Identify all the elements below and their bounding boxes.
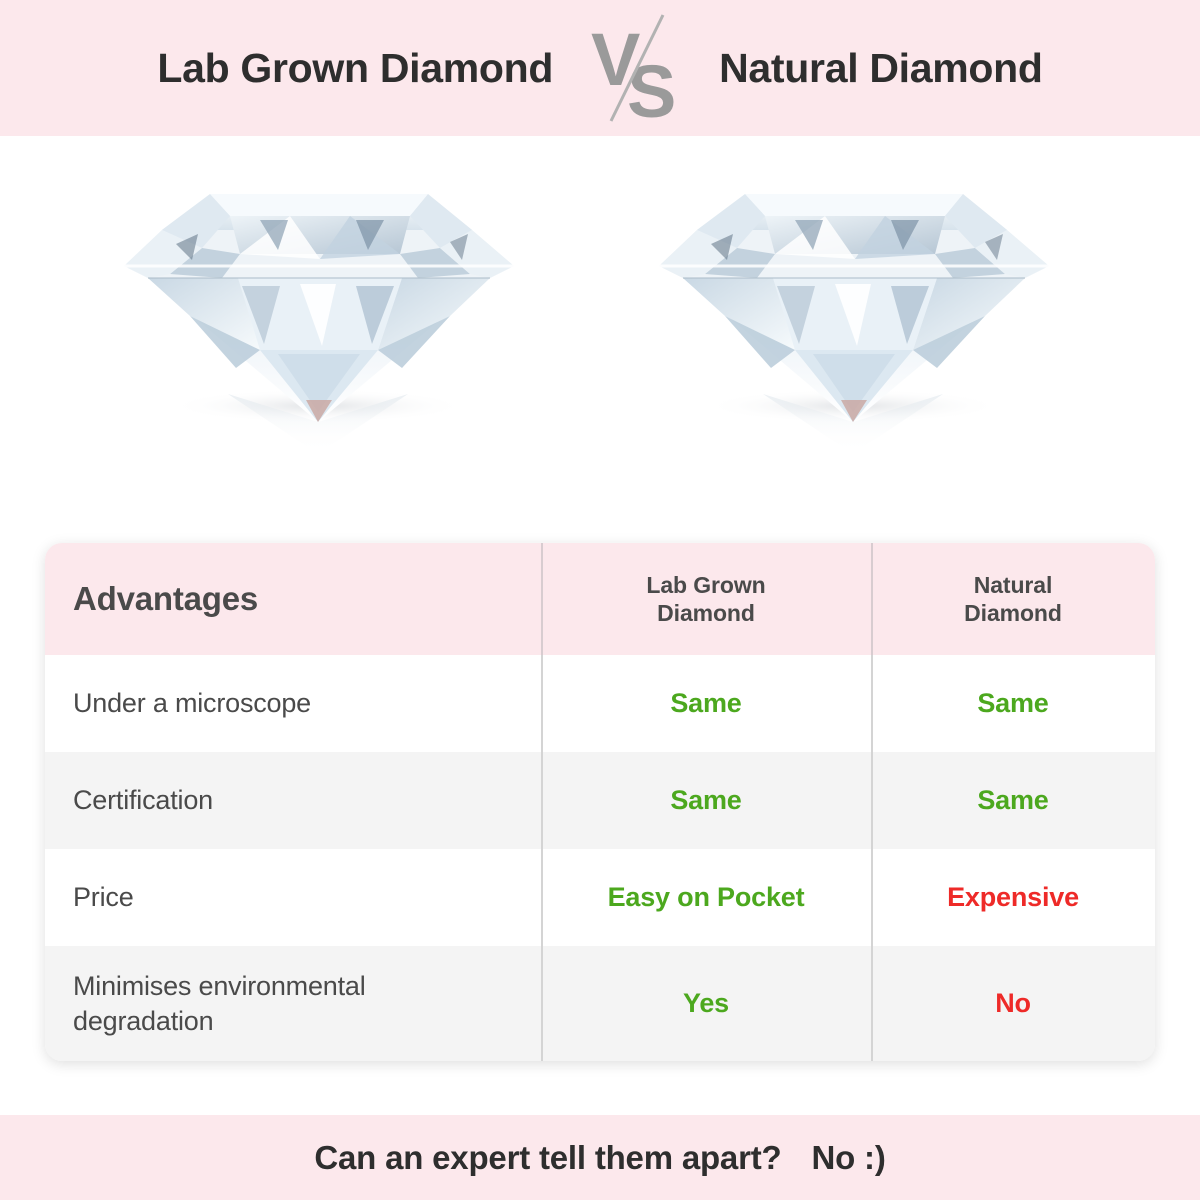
row-natural-cell: Same [871,655,1155,752]
lab-grown-diamond-image [110,154,530,484]
lab-grown-header-text: Lab Grown Diamond [646,571,765,627]
row-lab-grown-value: Yes [683,988,729,1019]
row-feature-cell: Minimises environmental degradation [45,946,541,1061]
table-header-lab-grown: Lab Grown Diamond [541,543,871,655]
header-banner-inner: Lab Grown Diamond V S Natural Diamond [0,13,1200,123]
row-natural-cell: Same [871,752,1155,849]
table-header-advantages: Advantages [45,543,541,655]
header-title-natural: Natural Diamond [719,45,1043,92]
row-natural-value: Same [977,785,1048,816]
footer-answer: No :) [811,1139,885,1177]
row-feature-label: Under a microscope [73,686,311,721]
lab-grown-header-line1: Lab Grown [646,571,765,599]
header-title-lab-grown: Lab Grown Diamond [157,45,553,92]
column-divider-2 [871,946,873,1061]
row-feature-cell: Certification [45,752,541,849]
row-natural-value: Expensive [947,882,1079,913]
row-feature-cell: Price [45,849,541,946]
footer-question: Can an expert tell them apart? [314,1139,781,1177]
row-natural-cell: No [871,946,1155,1061]
column-divider-1 [541,543,543,655]
natural-header-text: Natural Diamond [964,571,1062,627]
natural-header-line2: Diamond [964,599,1062,627]
column-divider-1 [541,946,543,1061]
row-natural-cell: Expensive [871,849,1155,946]
column-divider-1 [541,849,543,946]
diamond-stage [0,136,1200,536]
infographic-page: Lab Grown Diamond V S Natural Diamond [0,0,1200,1200]
row-feature-line2: degradation [73,1004,366,1039]
column-divider-2 [871,849,873,946]
row-feature-label: Minimises environmental degradation [73,969,366,1038]
row-lab-grown-value: Same [670,688,741,719]
row-lab-grown-value: Easy on Pocket [608,882,805,913]
row-lab-grown-cell: Same [541,752,871,849]
row-feature-label: Certification [73,783,213,818]
svg-text:S: S [627,50,676,123]
row-lab-grown-cell: Yes [541,946,871,1061]
lab-grown-header-line2: Diamond [646,599,765,627]
row-lab-grown-cell: Same [541,655,871,752]
natural-header-line1: Natural [964,571,1062,599]
advantages-label: Advantages [73,580,258,618]
column-divider-2 [871,655,873,752]
row-feature-label: Price [73,880,134,915]
table-row: Under a microscope Same Same [45,655,1155,752]
column-divider-1 [541,752,543,849]
column-divider-2 [871,752,873,849]
table-header-natural: Natural Diamond [871,543,1155,655]
table-header-row: Advantages Lab Grown Diamond Natural Dia… [45,543,1155,655]
row-feature-line1: Minimises environmental [73,969,366,1004]
row-lab-grown-cell: Easy on Pocket [541,849,871,946]
natural-diamond-image [645,154,1065,484]
vs-icon: V S [587,13,683,123]
table-row: Price Easy on Pocket Expensive [45,849,1155,946]
column-divider-2 [871,543,873,655]
row-lab-grown-value: Same [670,785,741,816]
row-feature-cell: Under a microscope [45,655,541,752]
column-divider-1 [541,655,543,752]
row-natural-value: Same [977,688,1048,719]
table-row: Certification Same Same [45,752,1155,849]
table-row: Minimises environmental degradation Yes … [45,946,1155,1061]
header-banner: Lab Grown Diamond V S Natural Diamond [0,0,1200,136]
footer-banner: Can an expert tell them apart? No :) [0,1115,1200,1200]
row-natural-value: No [995,988,1031,1019]
comparison-table: Advantages Lab Grown Diamond Natural Dia… [45,543,1155,1061]
